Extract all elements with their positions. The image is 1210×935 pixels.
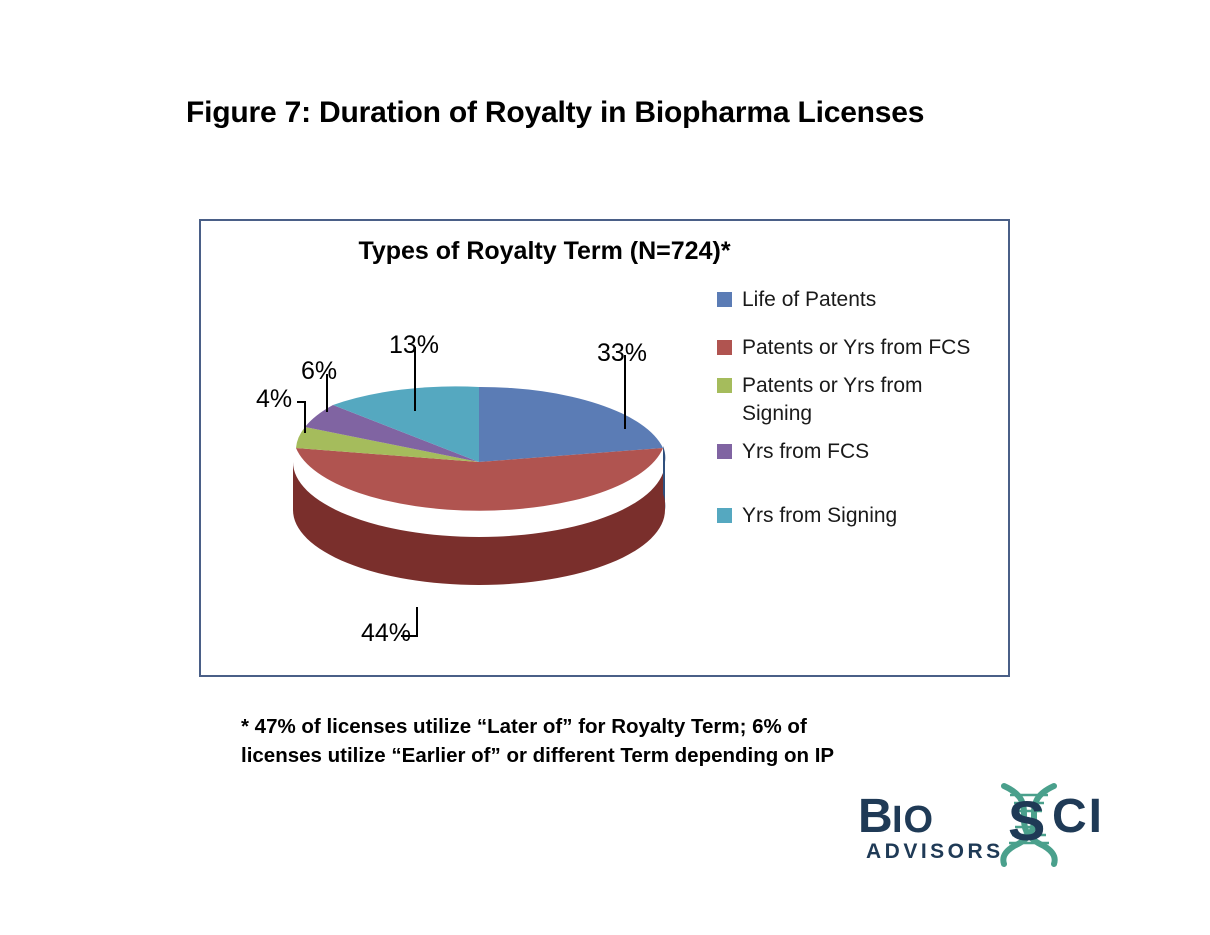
legend-swatch-icon — [717, 444, 732, 459]
footnote-line-1: * 47% of licenses utilize “Later of” for… — [241, 712, 1001, 741]
logo-graphic: B IO S CI ADVISORS — [858, 782, 1158, 872]
logo-subtitle: ADVISORS — [866, 840, 1004, 863]
legend-item-yrs-from-signing[interactable]: Yrs from Signing — [717, 502, 997, 530]
logo-text-s: S — [1008, 789, 1045, 852]
data-label-life-of-patents: 33% — [597, 339, 647, 368]
chart-legend: Life of Patents Patents or Yrs from FCS … — [717, 286, 997, 538]
legend-item-yrs-from-fcs[interactable]: Yrs from FCS — [717, 438, 997, 466]
chart-frame: Types of Royalty Term (N=724)* 33% 13% 6… — [199, 219, 1010, 677]
legend-item-life-of-patents[interactable]: Life of Patents — [717, 286, 997, 314]
data-label-patents-or-yrs-from-signing: 4% — [256, 385, 292, 414]
legend-item-label: Patents or Yrs from Signing — [742, 372, 997, 428]
legend-swatch-icon — [717, 508, 732, 523]
logo-text-io: IO — [892, 799, 934, 841]
legend-swatch-icon — [717, 340, 732, 355]
legend-item-label: Yrs from Signing — [742, 502, 897, 530]
data-label-patents-or-yrs-from-fcs: 44% — [361, 619, 411, 648]
footnote: * 47% of licenses utilize “Later of” for… — [241, 712, 1001, 770]
legend-item-label: Yrs from FCS — [742, 438, 869, 466]
legend-item-patents-or-yrs-from-fcs[interactable]: Patents or Yrs from FCS — [717, 334, 997, 362]
legend-item-patents-or-yrs-from-signing[interactable]: Patents or Yrs from Signing — [717, 372, 997, 428]
footnote-line-2: licenses utilize “Earlier of” or differe… — [241, 741, 1001, 770]
data-label-yrs-from-signing: 13% — [389, 331, 439, 360]
legend-item-label: Life of Patents — [742, 286, 876, 314]
leader-line-4 — [297, 402, 305, 433]
legend-swatch-icon — [717, 378, 732, 393]
data-label-yrs-from-fcs: 6% — [301, 357, 337, 386]
biosci-advisors-logo: B IO S CI ADVISORS — [858, 782, 1158, 872]
page-title: Figure 7: Duration of Royalty in Biophar… — [186, 96, 1066, 130]
logo-text-ci: CI — [1052, 790, 1104, 843]
legend-item-label: Patents or Yrs from FCS — [742, 334, 970, 362]
logo-text-bio: B — [858, 790, 894, 843]
legend-swatch-icon — [717, 292, 732, 307]
